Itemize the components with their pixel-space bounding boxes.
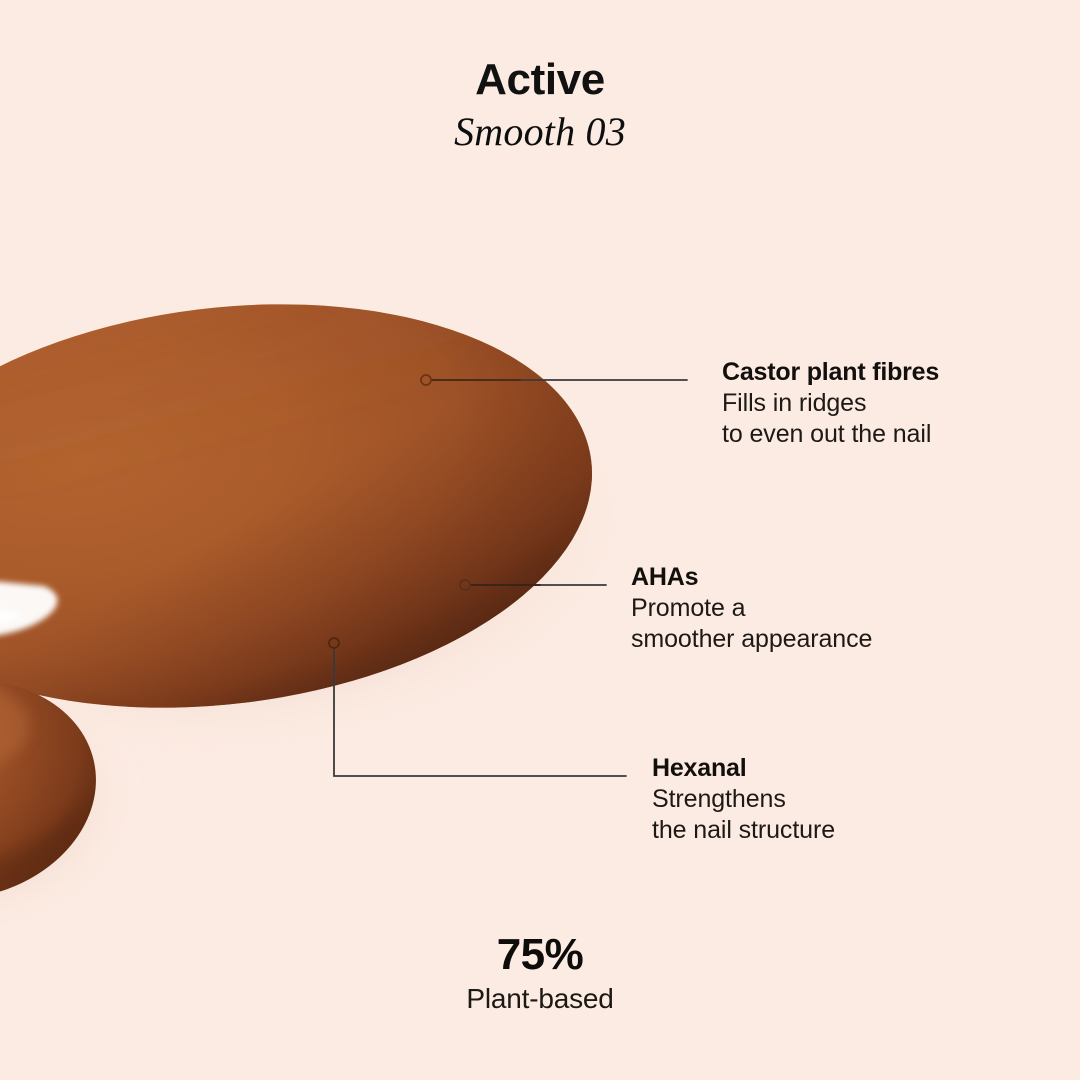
leader-marker-castor [421, 375, 431, 385]
annotation-title: Hexanal [652, 753, 835, 784]
annotation-description-line: the nail structure [652, 815, 835, 846]
leader-marker-hexanal [329, 638, 339, 648]
annotation-title: Castor plant fibres [722, 357, 939, 388]
annotation-castor-plant-fibres: Castor plant fibres Fills in ridges to e… [722, 357, 939, 450]
leader-lines [0, 0, 1080, 1080]
annotation-description-line: to even out the nail [722, 419, 939, 450]
header: Active Smooth 03 [0, 56, 1080, 154]
leader-line-ahas [460, 580, 606, 590]
annotation-description-line: smoother appearance [631, 624, 872, 655]
plant-based-label: Plant-based [0, 982, 1080, 1016]
annotation-hexanal: Hexanal Strengthens the nail structure [652, 753, 835, 846]
annotation-description-line: Fills in ridges [722, 388, 939, 419]
annotation-title: AHAs [631, 562, 872, 593]
annotation-ahas: AHAs Promote a smoother appearance [631, 562, 872, 655]
leader-marker-ahas [460, 580, 470, 590]
page-title: Active [0, 56, 1080, 104]
page-subtitle: Smooth 03 [0, 110, 1080, 154]
infographic-canvas: Active Smooth 03 Castor plant fibres Fil… [0, 0, 1080, 1080]
footer-claim: 75% Plant-based [0, 930, 1080, 1016]
annotation-description-line: Promote a [631, 593, 872, 624]
leader-line-castor [421, 375, 687, 385]
plant-based-percentage: 75% [0, 930, 1080, 980]
annotation-description-line: Strengthens [652, 784, 835, 815]
leader-line-hexanal [329, 638, 626, 776]
